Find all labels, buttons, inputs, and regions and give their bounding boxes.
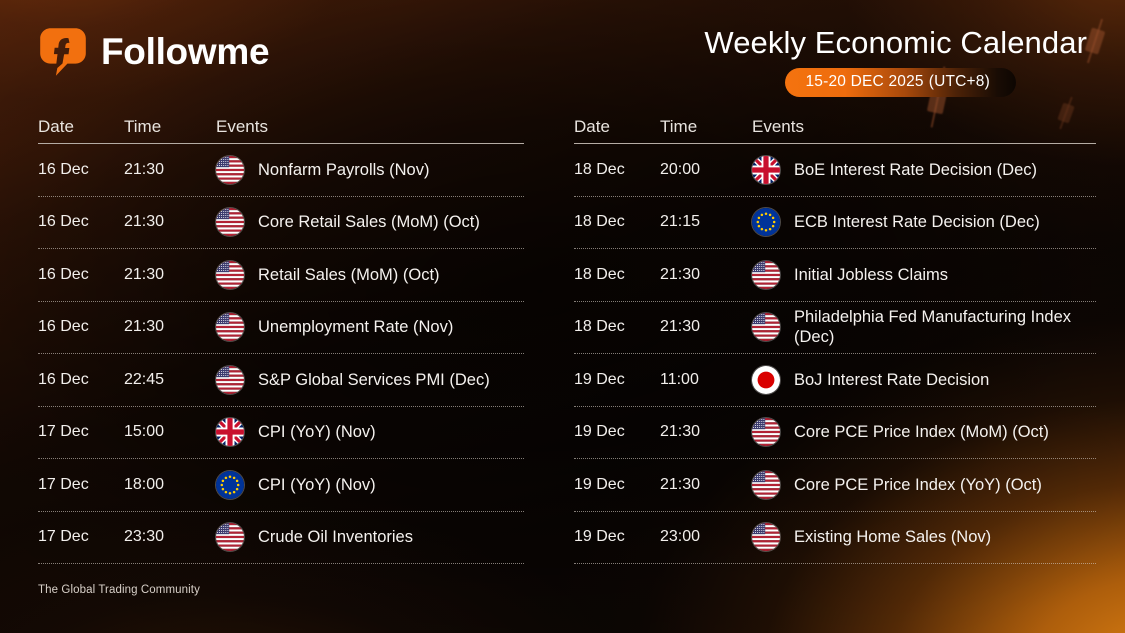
brand-lockup: Followme [38, 26, 269, 76]
calendar-row[interactable]: 19 Dec23:00Existing Home Sales (Nov) [574, 512, 1096, 565]
row-time: 18:00 [124, 475, 216, 495]
timezone-label: (UTC+8) [929, 73, 990, 90]
row-date: 17 Dec [38, 527, 124, 547]
date-range-badge: 15-20 DEC 2025(UTC+8) [785, 68, 1016, 97]
row-time: 15:00 [124, 422, 216, 442]
calendar-row[interactable]: 16 Dec21:30Unemployment Rate (Nov) [38, 302, 524, 355]
row-event-name: Nonfarm Payrolls (Nov) [258, 160, 429, 180]
calendar-row[interactable]: 17 Dec15:00CPI (YoY) (Nov) [38, 407, 524, 460]
row-time: 21:30 [660, 317, 752, 337]
column-header-events: Events [216, 118, 524, 135]
row-date: 19 Dec [574, 370, 660, 390]
column-header-right: Date Time Events [574, 118, 1096, 144]
row-time: 23:30 [124, 527, 216, 547]
us-flag-icon [752, 418, 780, 446]
row-date: 16 Dec [38, 160, 124, 180]
row-date: 19 Dec [574, 422, 660, 442]
uk-flag-icon [752, 156, 780, 184]
row-event-cell: CPI (YoY) (Nov) [216, 471, 524, 499]
column-header-date: Date [38, 118, 124, 135]
row-event-name: Existing Home Sales (Nov) [794, 527, 991, 547]
calendar-row[interactable]: 18 Dec21:30Philadelphia Fed Manufacturin… [574, 302, 1096, 355]
row-event-cell: Philadelphia Fed Manufacturing Index (De… [752, 307, 1096, 348]
row-event-name: CPI (YoY) (Nov) [258, 475, 376, 495]
row-event-name: BoE Interest Rate Decision (Dec) [794, 160, 1037, 180]
row-date: 19 Dec [574, 527, 660, 547]
eu-flag-icon [752, 208, 780, 236]
poster-header: Followme Weekly Economic Calendar 15-20 … [0, 0, 1125, 112]
row-date: 18 Dec [574, 160, 660, 180]
row-event-cell: Retail Sales (MoM) (Oct) [216, 261, 524, 289]
us-flag-icon [216, 523, 244, 551]
row-time: 20:00 [660, 160, 752, 180]
column-header-left: Date Time Events [38, 118, 524, 144]
calendar-row[interactable]: 16 Dec22:45S&P Global Services PMI (Dec) [38, 354, 524, 407]
row-event-name: Crude Oil Inventories [258, 527, 413, 547]
jp-flag-icon [752, 366, 780, 394]
row-event-cell: ECB Interest Rate Decision (Dec) [752, 208, 1096, 236]
row-date: 17 Dec [38, 475, 124, 495]
us-flag-icon [216, 208, 244, 236]
row-event-name: CPI (YoY) (Nov) [258, 422, 376, 442]
row-date: 17 Dec [38, 422, 124, 442]
row-date: 18 Dec [574, 265, 660, 285]
column-header-time: Time [660, 118, 752, 135]
calendar-row[interactable]: 16 Dec21:30Retail Sales (MoM) (Oct) [38, 249, 524, 302]
us-flag-icon [752, 313, 780, 341]
row-event-cell: Core PCE Price Index (MoM) (Oct) [752, 418, 1096, 446]
row-time: 21:30 [660, 265, 752, 285]
us-flag-icon [752, 261, 780, 289]
row-time: 21:15 [660, 212, 752, 232]
column-header-events: Events [752, 118, 1096, 135]
us-flag-icon [752, 523, 780, 551]
row-event-cell: BoE Interest Rate Decision (Dec) [752, 156, 1096, 184]
calendar-poster: Followme Weekly Economic Calendar 15-20 … [0, 0, 1125, 633]
calendar-row[interactable]: 19 Dec11:00BoJ Interest Rate Decision [574, 354, 1096, 407]
row-date: 16 Dec [38, 212, 124, 232]
row-event-cell: CPI (YoY) (Nov) [216, 418, 524, 446]
row-date: 16 Dec [38, 370, 124, 390]
row-event-cell: Nonfarm Payrolls (Nov) [216, 156, 524, 184]
row-event-cell: Existing Home Sales (Nov) [752, 523, 1096, 551]
us-flag-icon [216, 366, 244, 394]
row-event-name: Initial Jobless Claims [794, 265, 948, 285]
row-time: 21:30 [124, 265, 216, 285]
us-flag-icon [216, 313, 244, 341]
calendar-row[interactable]: 18 Dec21:30Initial Jobless Claims [574, 249, 1096, 302]
calendar-row[interactable]: 19 Dec21:30Core PCE Price Index (YoY) (O… [574, 459, 1096, 512]
calendar-rows-right: 18 Dec20:00BoE Interest Rate Decision (D… [574, 144, 1096, 564]
row-event-name: Core PCE Price Index (MoM) (Oct) [794, 422, 1049, 442]
row-date: 16 Dec [38, 265, 124, 285]
row-event-name: BoJ Interest Rate Decision [794, 370, 989, 390]
row-event-cell: BoJ Interest Rate Decision [752, 366, 1096, 394]
uk-flag-icon [216, 418, 244, 446]
row-date: 18 Dec [574, 212, 660, 232]
row-event-name: ECB Interest Rate Decision (Dec) [794, 212, 1040, 232]
row-time: 21:30 [660, 422, 752, 442]
title-block: Weekly Economic Calendar 15-20 DEC 2025(… [704, 26, 1087, 97]
row-time: 21:30 [660, 475, 752, 495]
calendar-rows-left: 16 Dec21:30Nonfarm Payrolls (Nov)16 Dec2… [38, 144, 524, 564]
row-event-name: S&P Global Services PMI (Dec) [258, 370, 490, 390]
row-date: 16 Dec [38, 317, 124, 337]
column-header-date: Date [574, 118, 660, 135]
row-date: 19 Dec [574, 475, 660, 495]
calendar-row[interactable]: 17 Dec23:30Crude Oil Inventories [38, 512, 524, 565]
us-flag-icon [216, 261, 244, 289]
row-time: 21:30 [124, 212, 216, 232]
calendar-column-left: Date Time Events 16 Dec21:30Nonfarm Payr… [0, 118, 562, 564]
row-event-cell: Core Retail Sales (MoM) (Oct) [216, 208, 524, 236]
row-event-name: Core Retail Sales (MoM) (Oct) [258, 212, 480, 232]
calendar-row[interactable]: 16 Dec21:30Core Retail Sales (MoM) (Oct) [38, 197, 524, 250]
calendar-row[interactable]: 17 Dec18:00CPI (YoY) (Nov) [38, 459, 524, 512]
eu-flag-icon [216, 471, 244, 499]
us-flag-icon [752, 471, 780, 499]
row-event-cell: Crude Oil Inventories [216, 523, 524, 551]
date-range-label: 15-20 DEC 2025 [805, 73, 923, 90]
calendar-columns: Date Time Events 16 Dec21:30Nonfarm Payr… [0, 118, 1125, 564]
row-event-name: Unemployment Rate (Nov) [258, 317, 453, 337]
row-time: 11:00 [660, 370, 752, 390]
column-header-time: Time [124, 118, 216, 135]
footer-tagline: The Global Trading Community [38, 584, 200, 596]
row-date: 18 Dec [574, 317, 660, 337]
row-time: 21:30 [124, 160, 216, 180]
row-event-name: Retail Sales (MoM) (Oct) [258, 265, 440, 285]
brand-name: Followme [101, 33, 269, 70]
row-event-cell: S&P Global Services PMI (Dec) [216, 366, 524, 394]
calendar-column-right: Date Time Events 18 Dec20:00BoE Interest… [562, 118, 1124, 564]
row-time: 23:00 [660, 527, 752, 547]
row-event-cell: Unemployment Rate (Nov) [216, 313, 524, 341]
row-event-cell: Core PCE Price Index (YoY) (Oct) [752, 471, 1096, 499]
us-flag-icon [216, 156, 244, 184]
calendar-row[interactable]: 18 Dec21:15ECB Interest Rate Decision (D… [574, 197, 1096, 250]
row-time: 22:45 [124, 370, 216, 390]
followme-logo-icon [38, 26, 88, 76]
row-event-name: Core PCE Price Index (YoY) (Oct) [794, 475, 1042, 495]
page-title: Weekly Economic Calendar [704, 26, 1087, 59]
row-event-cell: Initial Jobless Claims [752, 261, 1096, 289]
row-time: 21:30 [124, 317, 216, 337]
calendar-row[interactable]: 16 Dec21:30Nonfarm Payrolls (Nov) [38, 144, 524, 197]
row-event-name: Philadelphia Fed Manufacturing Index (De… [794, 307, 1096, 348]
calendar-row[interactable]: 18 Dec20:00BoE Interest Rate Decision (D… [574, 144, 1096, 197]
calendar-row[interactable]: 19 Dec21:30Core PCE Price Index (MoM) (O… [574, 407, 1096, 460]
